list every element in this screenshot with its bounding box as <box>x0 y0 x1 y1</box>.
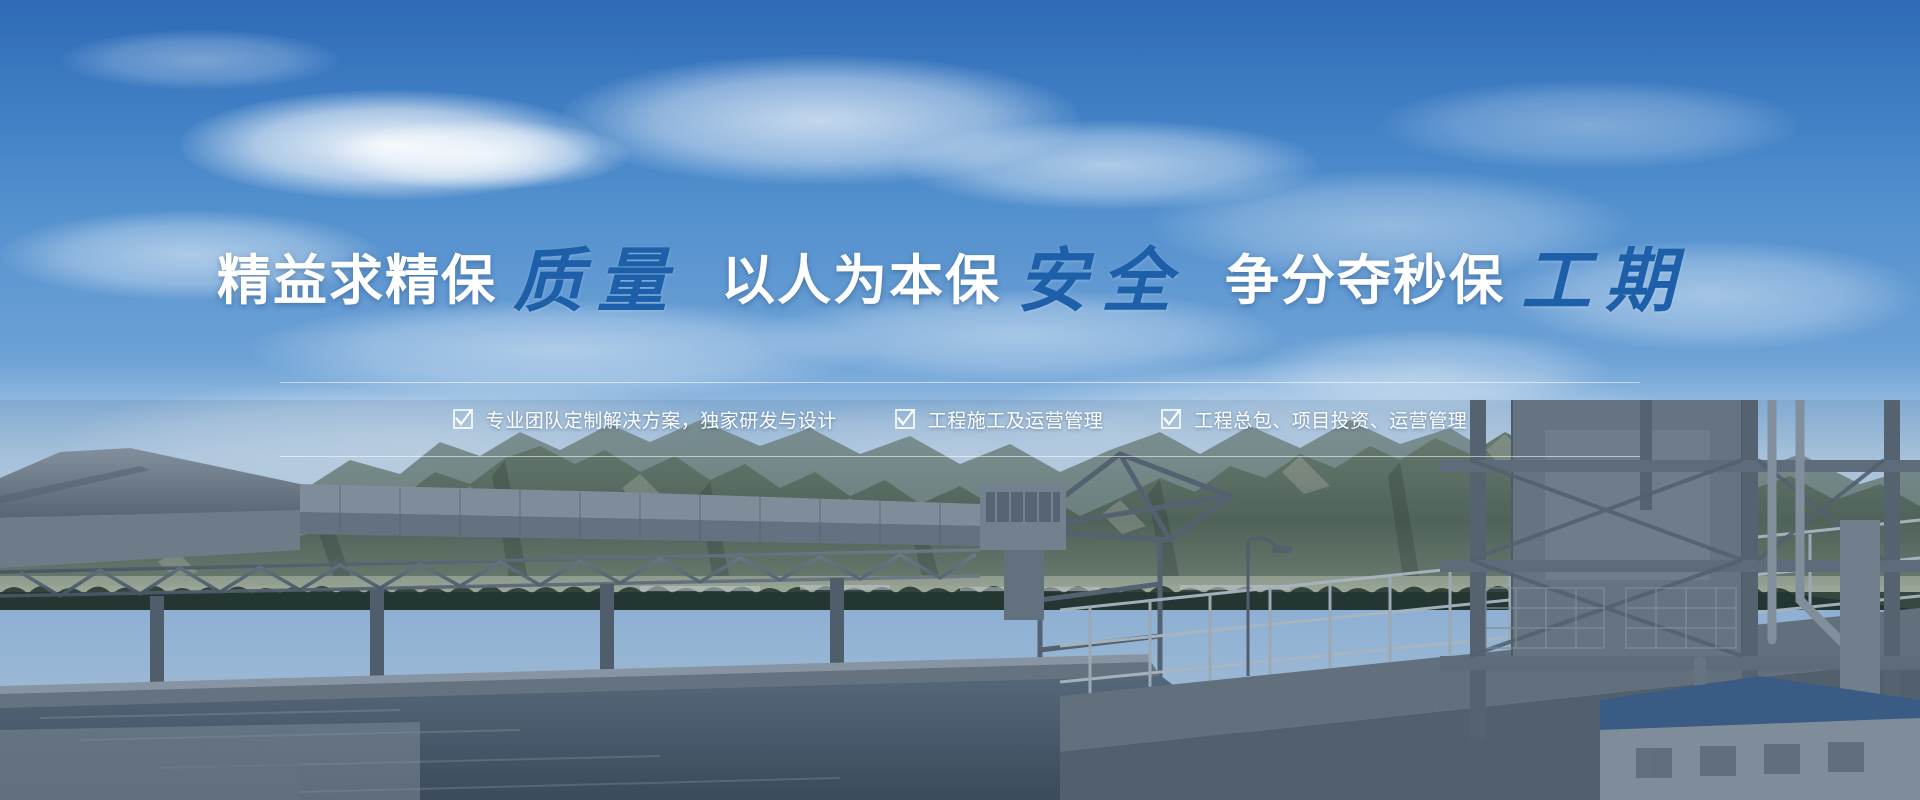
feature-item-1[interactable]: 专业团队定制解决方案，独家研发与设计 <box>453 406 837 433</box>
banner-content: 精益求精保质量以人为本保安全争分夺秒保工期 专业团队定制解决方案，独家研发与设计 <box>0 0 1920 800</box>
headline-slogan: 精益求精保质量以人为本保安全争分夺秒保工期 <box>0 246 1920 316</box>
feature-list: 专业团队定制解决方案，独家研发与设计 工程施工及运营管理 <box>280 396 1640 442</box>
feature-label: 工程总包、项目投资、运营管理 <box>1194 406 1467 433</box>
feature-item-2[interactable]: 工程施工及运营管理 <box>895 406 1104 433</box>
checkbox-checked-icon <box>1161 409 1181 429</box>
hero-banner: 精益求精保质量以人为本保安全争分夺秒保工期 专业团队定制解决方案，独家研发与设计 <box>0 0 1920 800</box>
feature-label: 工程施工及运营管理 <box>928 406 1104 433</box>
checkbox-checked-icon <box>895 409 915 429</box>
headline-segment-5: 争分夺秒保 <box>1225 249 1505 312</box>
divider-top <box>280 382 1640 383</box>
headline-segment-1: 精益求精保 <box>217 249 497 312</box>
headline-segment-4-calligraphy: 安全 <box>1001 239 1199 322</box>
headline-segment-6-calligraphy: 工期 <box>1505 239 1703 322</box>
headline-segment-2-calligraphy: 质量 <box>497 239 695 322</box>
feature-item-3[interactable]: 工程总包、项目投资、运营管理 <box>1161 406 1467 433</box>
divider-bottom <box>280 456 1640 457</box>
checkbox-checked-icon <box>453 409 473 429</box>
feature-label: 专业团队定制解决方案，独家研发与设计 <box>486 406 837 433</box>
headline-segment-3: 以人为本保 <box>721 249 1001 312</box>
